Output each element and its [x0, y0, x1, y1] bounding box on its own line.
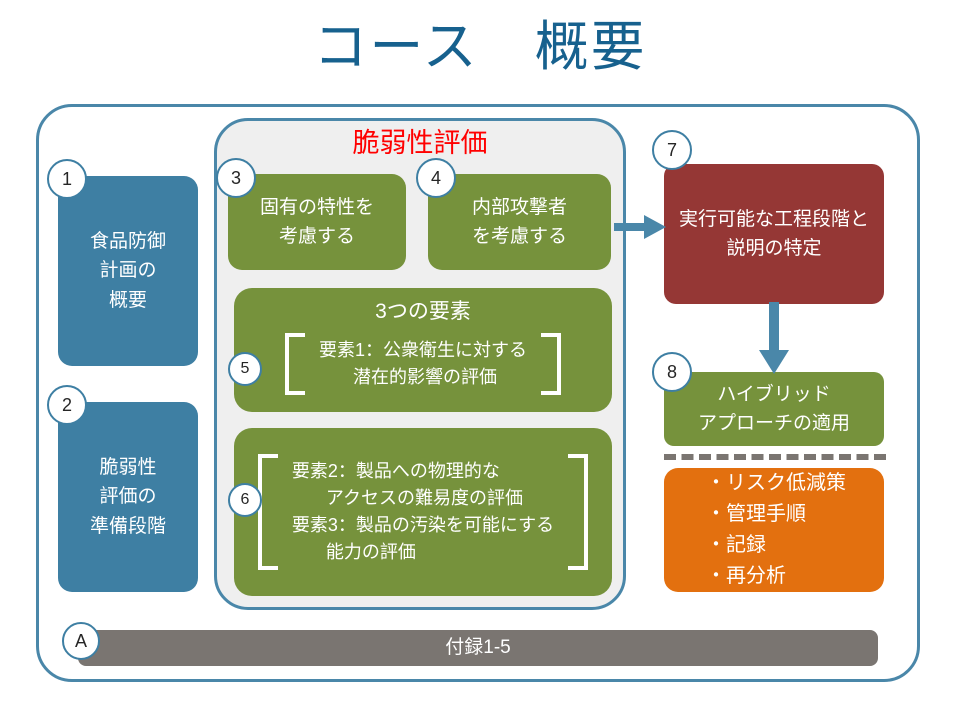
step-4-line-2: を考慮する: [472, 222, 567, 251]
slide-canvas: コース 概要 脆弱性評価 食品防御 計画の 概要 1 脆弱性 評価の 準備段階 …: [0, 0, 960, 720]
step-1-line-2: 計画の: [99, 256, 156, 285]
step-8-line-1: ハイブリッド: [717, 380, 831, 409]
step-7-badge: 7: [652, 130, 692, 170]
outcome-item-3: ・記録: [706, 530, 766, 561]
element-2-3-bracket: 要素2：製品への物理的な アクセスの難易度の評価 要素3：製品の汚染を可能にする…: [248, 452, 598, 572]
step-3-line-2: 考慮する: [279, 222, 355, 251]
element-1-line-1: 要素1：公衆衛生に対する: [319, 337, 527, 364]
appendix-bar[interactable]: 付録1-5: [78, 630, 878, 666]
three-elements-title: 3つの要素: [375, 296, 471, 329]
step-7-line-2: 説明の特定: [726, 234, 821, 263]
step-7-box[interactable]: 実行可能な工程段階と 説明の特定: [664, 164, 884, 304]
step-8-box[interactable]: ハイブリッド アプローチの適用: [664, 372, 884, 446]
step-3-badge: 3: [216, 158, 256, 198]
step-2-badge: 2: [47, 385, 87, 425]
step-7-line-1: 実行可能な工程段階と: [679, 205, 869, 234]
vulnerability-assessment-heading: 脆弱性評価: [214, 126, 626, 160]
step-2-box[interactable]: 脆弱性 評価の 準備段階: [58, 402, 198, 592]
appendix-badge: A: [62, 622, 100, 660]
step-5-box[interactable]: 3つの要素 要素1：公衆衛生に対する 潜在的影響の評価: [234, 288, 612, 412]
step-6-badge: 6: [228, 483, 262, 517]
step-4-box[interactable]: 内部攻撃者 を考慮する: [428, 174, 611, 270]
outcome-item-4: ・再分析: [706, 561, 786, 592]
step-4-line-1: 内部攻撃者: [472, 193, 567, 222]
step-5-badge: 5: [228, 352, 262, 386]
step-2-line-3: 準備段階: [90, 512, 166, 541]
step-8-badge: 8: [652, 352, 692, 392]
outcome-item-1: ・リスク低減策: [706, 468, 846, 499]
element-3-line-1: 要素3：製品の汚染を可能にする: [292, 512, 554, 539]
page-title: コース 概要: [0, 16, 960, 78]
dashed-divider: [664, 454, 886, 460]
step-4-badge: 4: [416, 158, 456, 198]
outcome-item-2: ・管理手順: [706, 499, 806, 530]
arrow-right-icon: [614, 212, 668, 242]
outcomes-box[interactable]: ・リスク低減策 ・管理手順 ・記録 ・再分析: [664, 468, 884, 592]
step-1-box[interactable]: 食品防御 計画の 概要: [58, 176, 198, 366]
step-2-line-2: 評価の: [99, 482, 156, 511]
step-2-line-1: 脆弱性: [99, 453, 156, 482]
step-6-box[interactable]: 要素2：製品への物理的な アクセスの難易度の評価 要素3：製品の汚染を可能にする…: [234, 428, 612, 596]
step-3-line-1: 固有の特性を: [260, 193, 374, 222]
step-1-line-3: 概要: [109, 286, 147, 315]
element-1-bracket: 要素1：公衆衛生に対する 潜在的影響の評価: [275, 331, 571, 397]
element-3-line-2: 能力の評価: [292, 539, 554, 566]
element-2-line-2: アクセスの難易度の評価: [292, 485, 554, 512]
step-1-line-1: 食品防御: [90, 227, 166, 256]
step-1-badge: 1: [47, 159, 87, 199]
step-8-line-2: アプローチの適用: [698, 409, 850, 438]
element-2-line-1: 要素2：製品への物理的な: [292, 458, 554, 485]
appendix-label: 付録1-5: [445, 633, 510, 662]
element-1-line-2: 潜在的影響の評価: [319, 364, 527, 391]
arrow-down-icon: [758, 302, 790, 376]
step-3-box[interactable]: 固有の特性を 考慮する: [228, 174, 406, 270]
